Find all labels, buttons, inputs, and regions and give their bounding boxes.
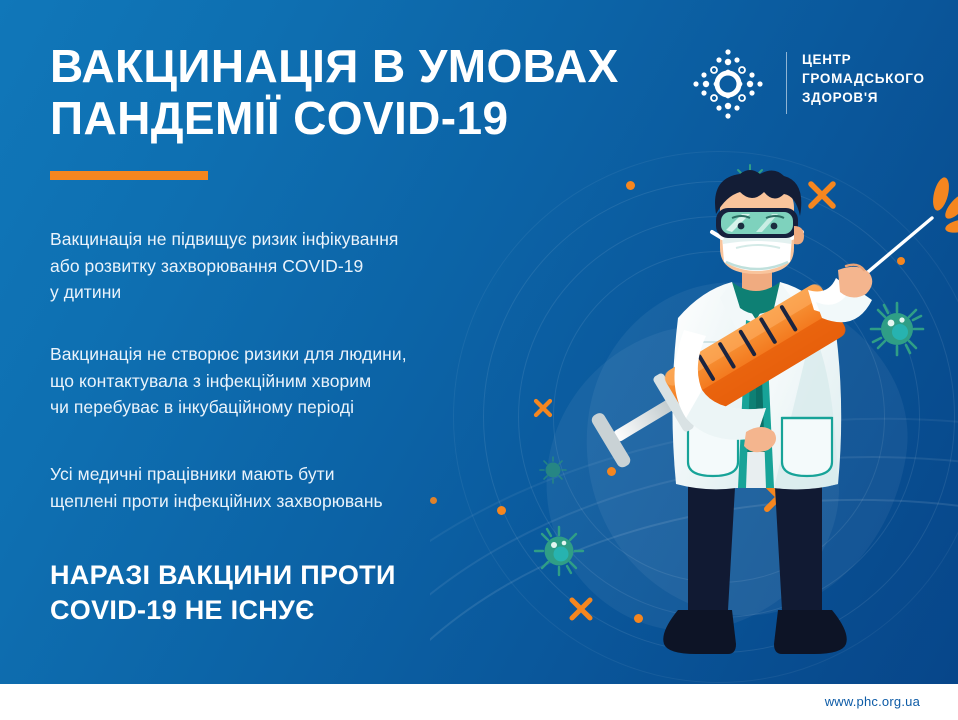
- logo-divider: [786, 52, 787, 114]
- logo-line-2: ГРОМАДСЬКОГО: [802, 71, 925, 86]
- title-line-1: ВАКЦИНАЦІЯ В УМОВАХ: [50, 40, 619, 92]
- logo-text: ЦЕНТР ГРОМАДСЬКОГО ЗДОРОВ'Я: [802, 50, 925, 107]
- logo-line-1: ЦЕНТР: [802, 52, 851, 67]
- organization-logo[interactable]: ЦЕНТР ГРОМАДСЬКОГО ЗДОРОВ'Я: [690, 44, 930, 124]
- statement-1-line-2: або розвитку захворювання COVID-19: [50, 256, 363, 276]
- decor-dot: [430, 497, 437, 504]
- doctor-head: [712, 170, 804, 294]
- decor-x-mark: [531, 396, 555, 420]
- statement-2-line-3: чи перебуває в інкубаційному періоді: [50, 397, 354, 417]
- statement-3-line-1: Усі медичні працівники мають бути: [50, 464, 335, 484]
- doctor-illustration: [560, 170, 958, 670]
- decor-dot: [497, 506, 506, 515]
- page-title: ВАКЦИНАЦІЯ В УМОВАХ ПАНДЕМІЇ COVID-19: [50, 40, 670, 145]
- statement-3: Усі медичні працівники мають бути щеплен…: [50, 461, 500, 514]
- footer-website-url[interactable]: www.phc.org.ua: [825, 694, 920, 709]
- title-line-2: ПАНДЕМІЇ COVID-19: [50, 92, 509, 144]
- doctor-legs: [663, 470, 846, 654]
- statement-1-line-1: Вакцинація не підвищує ризик інфікування: [50, 229, 398, 249]
- conclusion-text: НАРАЗІ ВАКЦИНИ ПРОТИ COVID-19 НЕ ІСНУЄ: [50, 558, 470, 627]
- infographic-poster: ВАКЦИНАЦІЯ В УМОВАХ ПАНДЕМІЇ COVID-19: [0, 0, 958, 720]
- injection-splash: [930, 176, 958, 235]
- statement-2-line-2: що контактувала з інфекційним хворим: [50, 371, 371, 391]
- logo-line-3: ЗДОРОВ'Я: [802, 90, 878, 105]
- statement-2: Вакцинація не створює ризики для людини,…: [50, 341, 500, 421]
- conclusion-line-1: НАРАЗІ ВАКЦИНИ ПРОТИ: [50, 560, 396, 590]
- statement-3-line-2: щеплені проти інфекційних захворювань: [50, 491, 383, 511]
- footer-strip: [0, 684, 958, 720]
- statement-2-line-1: Вакцинація не створює ризики для людини,: [50, 344, 407, 364]
- statement-1-line-3: у дитини: [50, 282, 121, 302]
- phc-radial-dots-icon: [690, 46, 766, 122]
- conclusion-line-2: COVID-19 НЕ ІСНУЄ: [50, 595, 315, 625]
- poster-background: ВАКЦИНАЦІЯ В УМОВАХ ПАНДЕМІЇ COVID-19: [0, 0, 958, 684]
- statement-1: Вакцинація не підвищує ризик інфікування…: [50, 226, 500, 306]
- title-accent-bar: [50, 171, 208, 180]
